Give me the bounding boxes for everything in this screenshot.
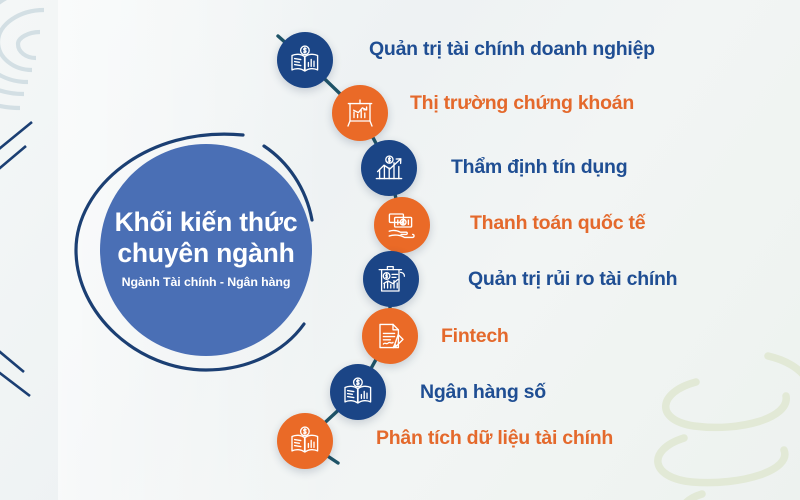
central-title: Khối kiến thức chuyên ngành xyxy=(115,207,298,270)
diagonal-lines-decoration-icon xyxy=(0,120,66,400)
item-label-8: Phân tích dữ liệu tài chính xyxy=(376,429,613,449)
document-pencil-icon xyxy=(374,320,406,352)
item-label-5: Quản trị rủi ro tài chính xyxy=(468,270,677,290)
item-label-3: Thẩm định tín dụng xyxy=(451,158,627,178)
scribble-decoration-icon xyxy=(640,346,800,500)
growth-bar-chart-arrow-icon xyxy=(373,152,405,184)
item-label-6: Fintech xyxy=(441,327,509,347)
node-4[interactable] xyxy=(374,197,430,253)
node-8[interactable] xyxy=(277,413,333,469)
item-label-2: Thị trường chứng khoán xyxy=(410,94,634,114)
node-6[interactable] xyxy=(362,308,418,364)
hand-banknote-icon xyxy=(386,209,418,241)
central-badge: Khối kiến thức chuyên ngành Ngành Tài ch… xyxy=(72,124,330,376)
item-label-4: Thanh toán quốc tế xyxy=(470,214,645,234)
node-7[interactable] xyxy=(330,364,386,420)
infographic-canvas: Khối kiến thức chuyên ngành Ngành Tài ch… xyxy=(0,0,800,500)
node-5[interactable] xyxy=(363,251,419,307)
item-label-1: Quản trị tài chính doanh nghiệp xyxy=(369,40,655,60)
node-3[interactable] xyxy=(361,140,417,196)
item-label-7: Ngân hàng số xyxy=(420,383,546,403)
presentation-chart-icon xyxy=(344,97,376,129)
central-circle: Khối kiến thức chuyên ngành Ngành Tài ch… xyxy=(100,144,312,356)
clipboard-analytics-icon xyxy=(375,263,407,295)
book-money-chart-icon xyxy=(289,44,321,76)
book-money-chart-icon xyxy=(289,425,321,457)
node-2[interactable] xyxy=(332,85,388,141)
book-money-chart-icon xyxy=(342,376,374,408)
central-subtitle: Ngành Tài chính - Ngân hàng xyxy=(122,275,291,289)
node-1[interactable] xyxy=(277,32,333,88)
